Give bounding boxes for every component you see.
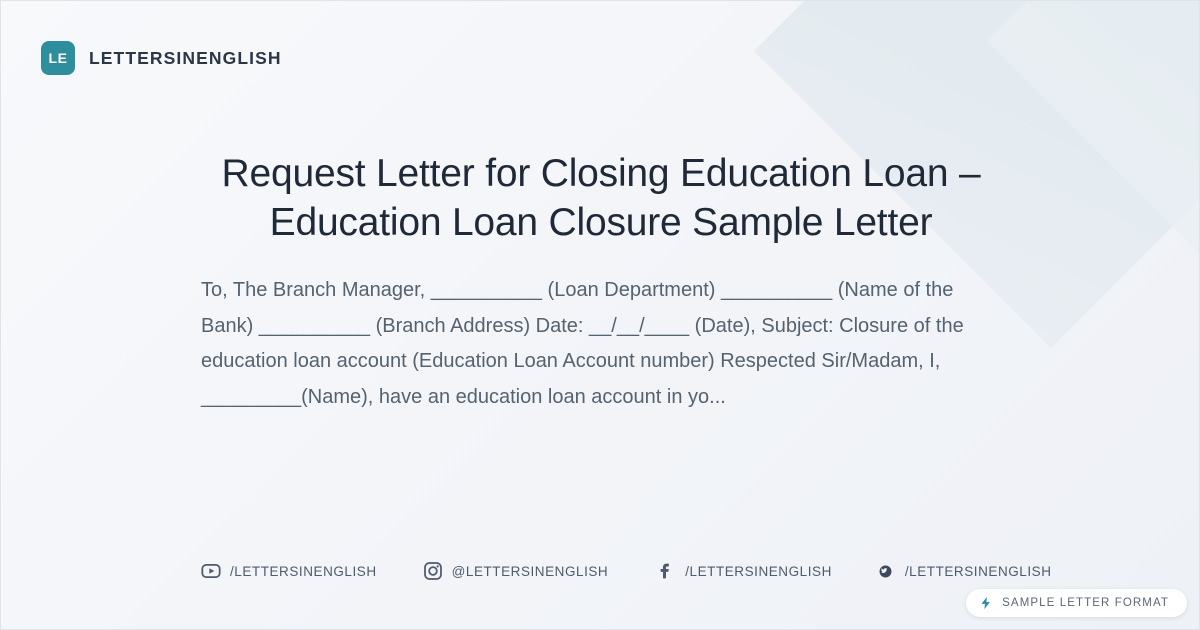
twitter-icon [876,561,896,581]
social-handle-instagram: @LETTERSINENGLISH [452,564,609,579]
facebook-icon [656,561,676,581]
social-link-instagram[interactable]: @LETTERSINENGLISH [423,561,609,581]
instagram-icon [423,561,443,581]
social-links-row: /LETTERSINENGLISH @LETTERSINENGLISH /LET… [201,561,1052,581]
card-content: Request Letter for Closing Education Loa… [1,149,1200,415]
social-handle-facebook: /LETTERSINENGLISH [685,564,832,579]
social-share-card: LE LETTERSINENGLISH Request Letter for C… [0,0,1200,630]
social-link-facebook[interactable]: /LETTERSINENGLISH [656,561,832,581]
logo-mark: LE [41,41,75,75]
social-handle-twitter: /LETTERSINENGLISH [905,564,1052,579]
article-excerpt: To, The Branch Manager, __________ (Loan… [201,273,991,415]
social-link-twitter[interactable]: /LETTERSINENGLISH [876,561,1052,581]
youtube-icon [201,561,221,581]
social-link-youtube[interactable]: /LETTERSINENGLISH [201,561,377,581]
brand-lockup[interactable]: LE LETTERSINENGLISH [41,41,282,75]
brand-wordmark: LETTERSINENGLISH [89,48,282,69]
badge-label: SAMPLE LETTER FORMAT [1002,597,1169,609]
page-title: Request Letter for Closing Education Loa… [181,149,1021,247]
lightning-bolt-icon [979,596,993,610]
social-handle-youtube: /LETTERSINENGLISH [230,564,377,579]
sample-letter-format-badge[interactable]: SAMPLE LETTER FORMAT [966,589,1187,617]
